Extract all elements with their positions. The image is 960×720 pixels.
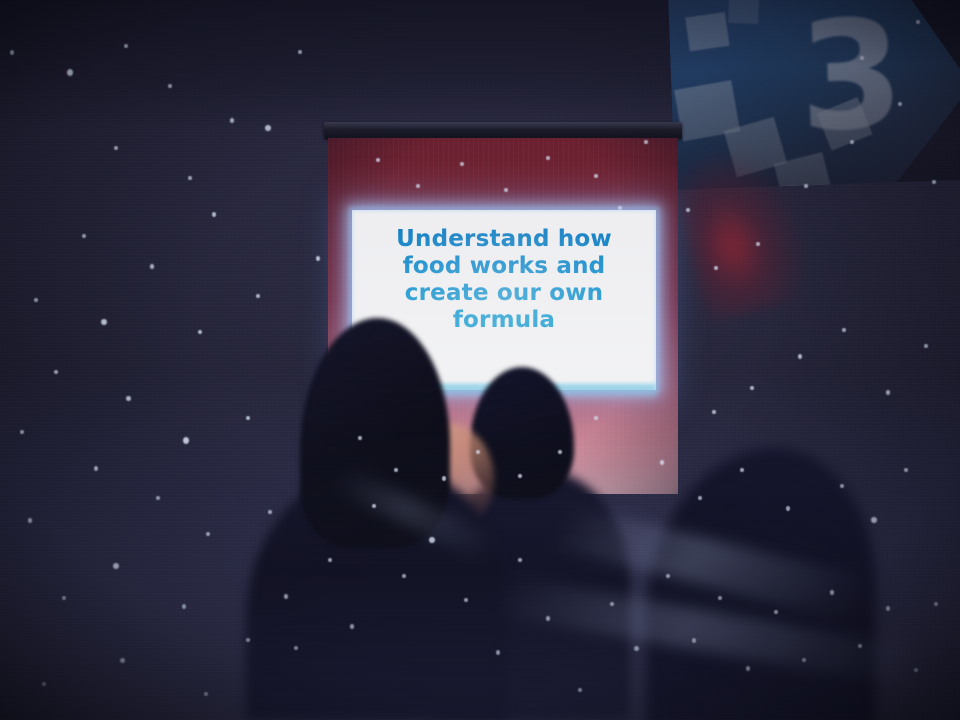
slide-headline: Understand how food works and create our… (352, 226, 656, 334)
screenshot-scene: 3 Understand how food works and create o… (0, 0, 960, 720)
screen-roller-bar (324, 122, 682, 139)
